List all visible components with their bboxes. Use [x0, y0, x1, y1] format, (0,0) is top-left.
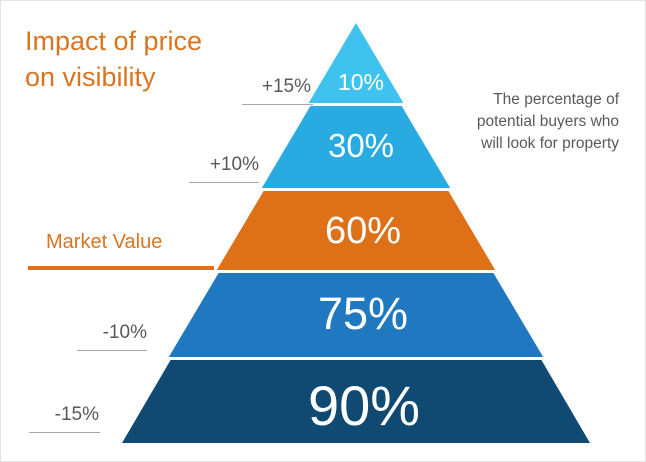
callout-minus-10: -10% — [63, 321, 147, 345]
pyramid-tier-4 — [169, 273, 543, 357]
callout-plus-10: +10% — [175, 153, 259, 177]
callout-minus-15: -15% — [15, 403, 99, 427]
pyramid-tier-5 — [122, 360, 590, 443]
pyramid-tier-1 — [309, 23, 404, 103]
pyramid-tier-2 — [262, 106, 450, 188]
callout-rule-minus-15 — [29, 432, 100, 433]
callout-rule-minus-10 — [77, 350, 147, 351]
infographic-canvas: Impact of price on visibility The percen… — [0, 0, 646, 462]
callout-plus-15: +15% — [227, 75, 311, 99]
callout-rule-plus-10 — [189, 182, 259, 183]
market-value-rule — [28, 266, 214, 270]
pyramid-tier-3 — [217, 191, 495, 270]
market-value-label: Market Value — [46, 229, 226, 255]
callout-rule-plus-15 — [242, 104, 313, 105]
